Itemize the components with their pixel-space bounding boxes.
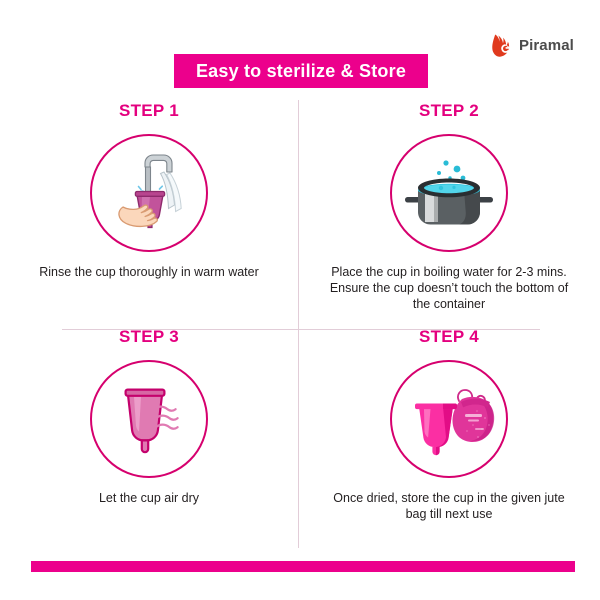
- step-caption-3: Let the cup air dry: [29, 490, 269, 506]
- step-card-2: STEP 2: [300, 100, 598, 312]
- step-card-3: STEP 3 Let the: [0, 326, 298, 506]
- brand-logo: Piramal: [492, 33, 574, 57]
- step-card-4: STEP 4: [300, 326, 598, 522]
- step-illustration-3: [90, 360, 208, 478]
- step-title-4: STEP 4: [300, 326, 598, 348]
- step-illustration-1: [90, 134, 208, 252]
- bottom-accent-bar: [31, 561, 575, 572]
- step-title-2: STEP 2: [300, 100, 598, 122]
- step-illustration-2: [390, 134, 508, 252]
- step-title-3: STEP 3: [0, 326, 298, 348]
- page-title: Easy to sterilize & Store: [196, 61, 406, 82]
- piramal-flame-logo-icon: [492, 33, 514, 57]
- menstrual-cup-air-drying-icon: [90, 360, 208, 478]
- brand-name: Piramal: [519, 38, 574, 53]
- boiling-pot-with-water-icon: [390, 134, 508, 252]
- step-caption-4: Once dried, store the cup in the given j…: [324, 490, 574, 522]
- steps-grid: STEP 1: [0, 100, 600, 550]
- menstrual-cup-with-jute-storage-bag-icon: [390, 360, 508, 478]
- step-card-1: STEP 1: [0, 100, 298, 280]
- step-title-1: STEP 1: [0, 100, 298, 122]
- hand-washing-cup-under-faucet-icon: [90, 134, 208, 252]
- step-illustration-4: [390, 360, 508, 478]
- step-caption-2: Place the cup in boiling water for 2-3 m…: [324, 264, 574, 312]
- page-title-banner: Easy to sterilize & Store: [174, 54, 428, 88]
- step-caption-1: Rinse the cup thoroughly in warm water: [29, 264, 269, 280]
